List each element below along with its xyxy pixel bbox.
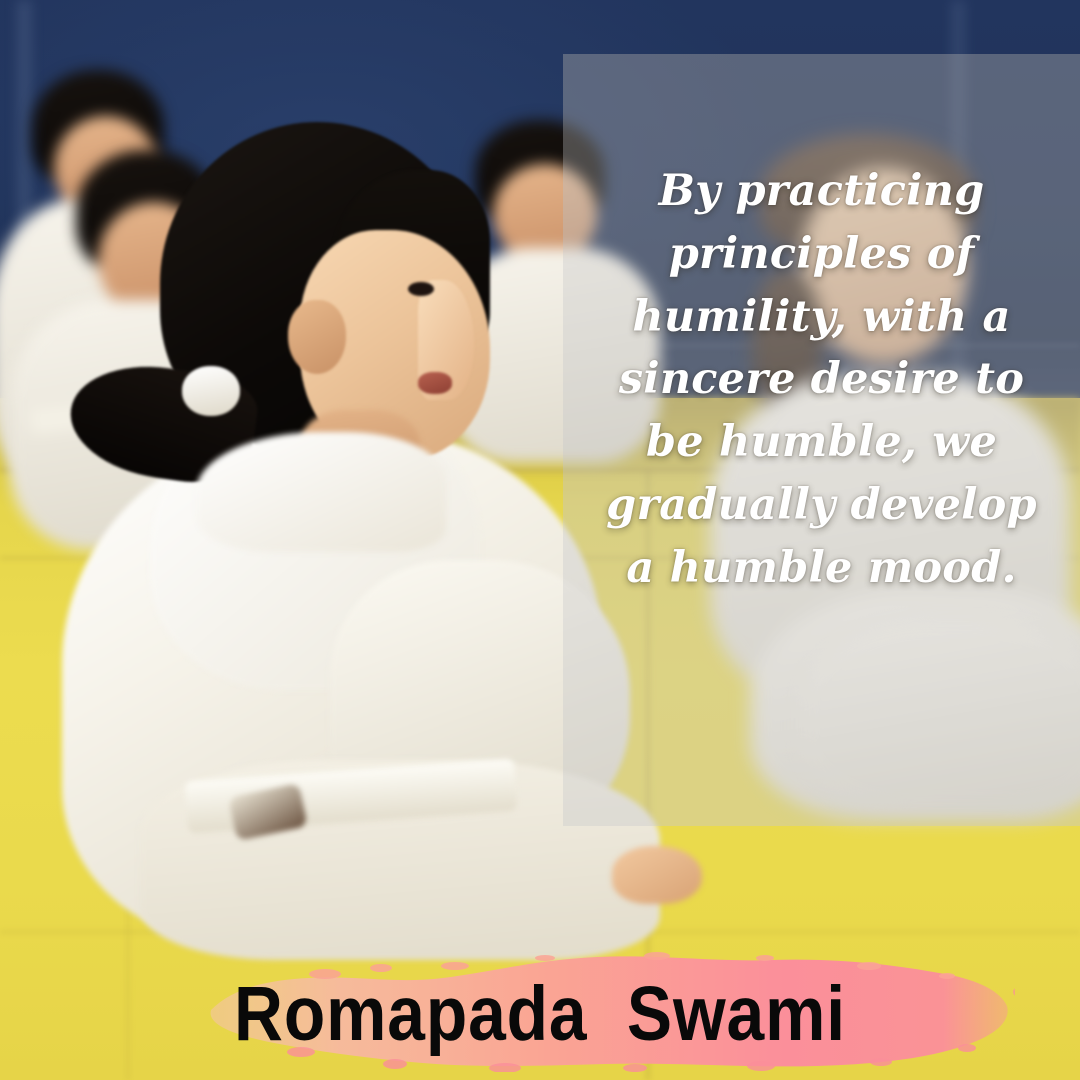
subject-mouth [418, 372, 452, 394]
subject-hair-tie [182, 366, 240, 416]
subject-eye [408, 282, 434, 296]
quote-card: By practicing principles of humility, wi… [0, 0, 1080, 1080]
subject-gi-collar [196, 432, 446, 552]
quote-text: By practicing principles of humility, wi… [563, 160, 1080, 599]
subject-foot [612, 846, 702, 904]
subject-ear [288, 300, 346, 374]
author-name: Romapada Swami [65, 976, 1015, 1053]
